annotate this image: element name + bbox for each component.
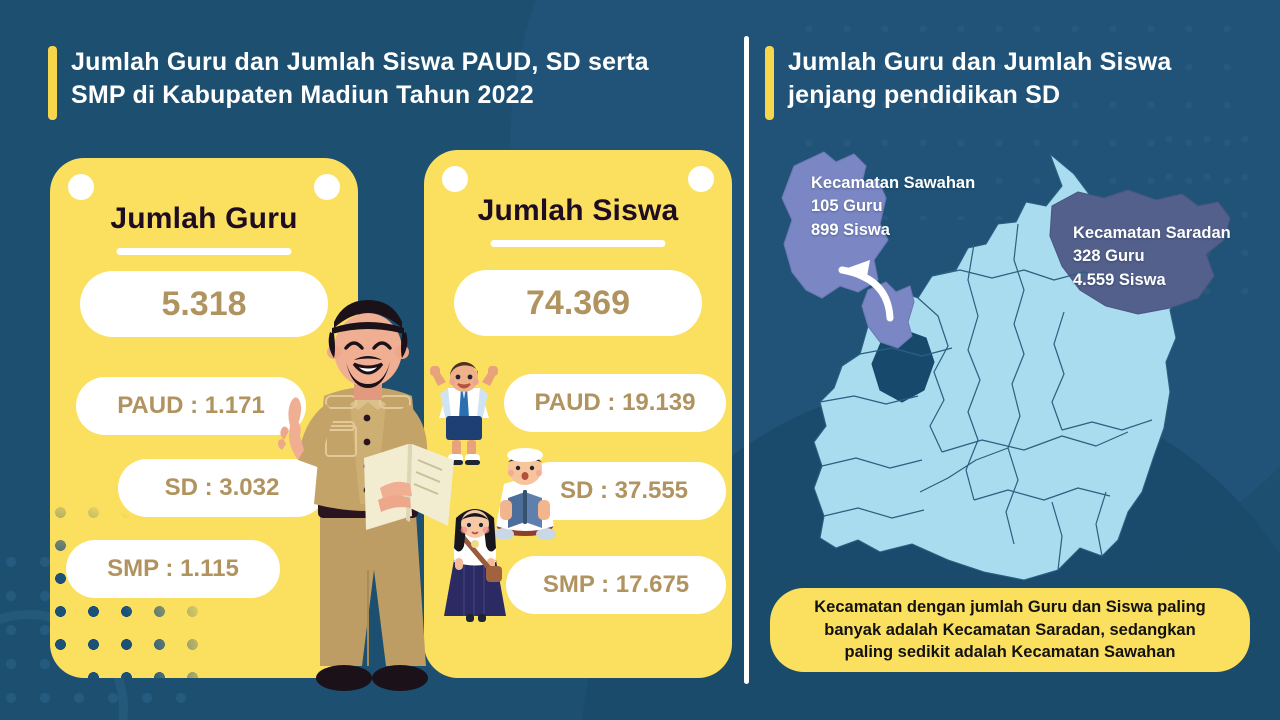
card-punch-hole-right-icon: [688, 166, 714, 192]
map-label-saradan: Kecamatan Saradan 328 Guru 4.559 Siswa: [1073, 222, 1231, 292]
siswa-total-pill: 74.369: [454, 270, 702, 336]
card-heading-underline: [117, 248, 292, 255]
title-accent-bar: [765, 46, 774, 120]
siswa-smp-pill: SMP : 17.675: [506, 556, 726, 614]
left-title-text: Jumlah Guru dan Jumlah Siswa PAUD, SD se…: [71, 46, 649, 112]
teacher-illustration: [268, 300, 468, 718]
card-heading: Jumlah Siswa: [424, 194, 732, 228]
card-punch-hole-left-icon: [442, 166, 468, 192]
infographic-canvas: Jumlah Guru dan Jumlah Siswa PAUD, SD se…: [0, 0, 1280, 720]
card-punch-hole-right-icon: [314, 174, 340, 200]
title-accent-bar: [48, 46, 57, 120]
summary-note-box: Kecamatan dengan jumlah Guru dan Siswa p…: [770, 588, 1250, 672]
siswa-paud-pill: PAUD : 19.139: [504, 374, 726, 432]
card-heading: Jumlah Guru: [50, 202, 358, 236]
card-heading-underline: [491, 240, 666, 247]
right-title-block: Jumlah Guru dan Jumlah Siswa jenjang pen…: [765, 46, 1235, 120]
map-label-sawahan: Kecamatan Sawahan 105 Guru 899 Siswa: [811, 172, 975, 242]
summary-note-text: Kecamatan dengan jumlah Guru dan Siswa p…: [792, 596, 1228, 664]
right-title-text: Jumlah Guru dan Jumlah Siswa jenjang pen…: [788, 46, 1171, 112]
vertical-divider: [744, 36, 749, 684]
guru-smp-pill: SMP : 1.115: [66, 540, 280, 598]
card-punch-hole-left-icon: [68, 174, 94, 200]
left-title-block: Jumlah Guru dan Jumlah Siswa PAUD, SD se…: [48, 46, 708, 120]
